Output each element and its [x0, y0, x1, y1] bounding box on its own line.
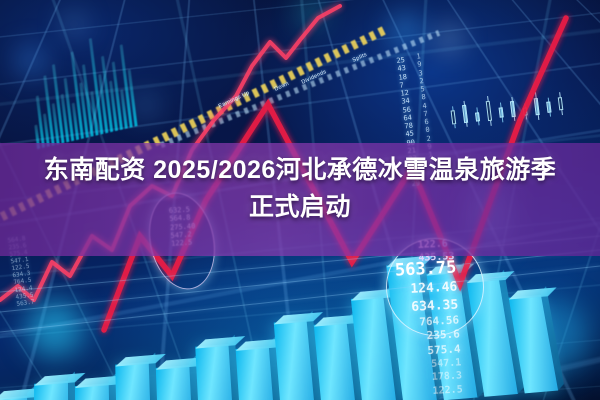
candlestick-body — [462, 105, 468, 123]
banner-image: 25 43 18 7 12 34 56 64 78 45 90 21 33 67… — [0, 0, 600, 400]
candlestick-body — [486, 101, 492, 121]
candlestick-body — [558, 97, 564, 110]
highlight-values: 563.75124.46634.35764.56235.6575.4547.11… — [394, 256, 463, 399]
candlestick-body — [475, 112, 480, 121]
table-row — [75, 383, 110, 400]
glow-blob — [66, 16, 82, 32]
table-row — [314, 322, 356, 400]
table-row — [115, 362, 151, 400]
glow-blob — [440, 30, 458, 48]
caption-line-1: 东南配资 2025/2026河北承德冰雪温泉旅游季 — [10, 152, 590, 189]
highlight-value: 563.75 — [394, 256, 457, 282]
candlestick — [485, 96, 493, 126]
candlestick-body — [546, 101, 551, 112]
candlestick — [546, 97, 552, 116]
candlestick — [533, 92, 540, 120]
table-row — [274, 320, 315, 400]
candlestick-body — [510, 101, 516, 117]
table-row — [156, 365, 192, 400]
candlestick — [474, 107, 480, 125]
caption-line-2: 正式启动 — [10, 189, 590, 226]
candlestick — [557, 92, 564, 115]
candlestick-body — [451, 110, 457, 124]
table-row — [236, 346, 274, 400]
candlestick — [498, 102, 504, 122]
candlestick — [509, 97, 516, 121]
table-row — [195, 344, 233, 400]
candlestick-body — [499, 107, 504, 117]
candlestick — [462, 101, 469, 127]
glow-blob — [300, 2, 322, 24]
candlestick — [522, 103, 528, 119]
table-row — [34, 381, 68, 400]
candlestick-body — [534, 97, 540, 114]
table-row — [0, 396, 27, 400]
banner-caption: 东南配资 2025/2026河北承德冰雪温泉旅游季 正式启动 — [0, 152, 600, 226]
candlestick-body — [523, 107, 528, 115]
